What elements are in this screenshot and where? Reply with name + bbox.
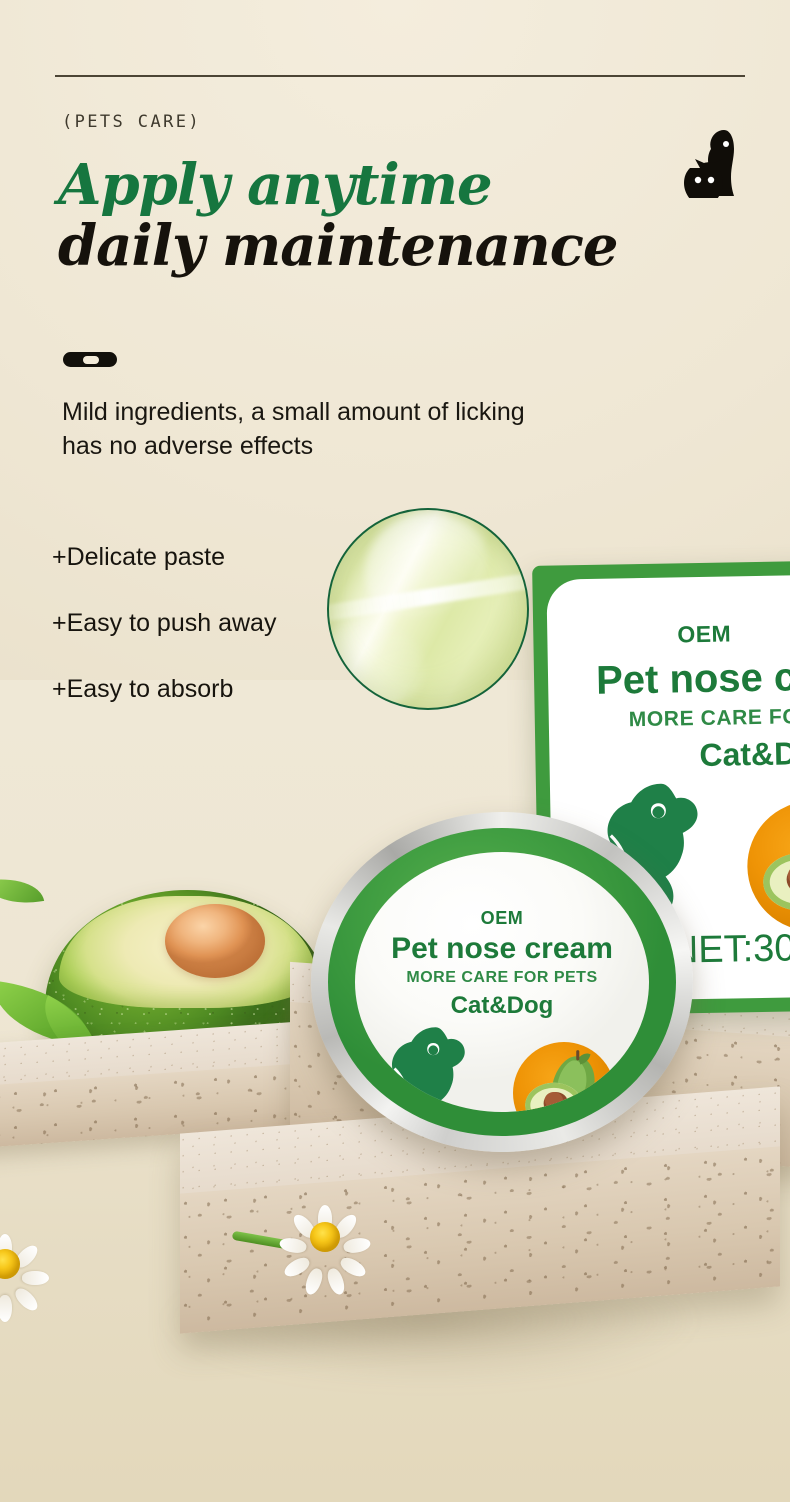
label-card-tagline: MORE CARE FOR PETS: [629, 704, 790, 732]
list-item: +Easy to push away: [52, 611, 352, 636]
dash-pill-divider-icon: [63, 352, 117, 367]
tin-title: Pet nose cream: [391, 932, 613, 966]
eyebrow-label: (PETS CARE): [62, 112, 201, 132]
cream-texture-circle: [327, 508, 529, 710]
feature-bullet-list: +Delicate paste +Easy to push away +Easy…: [52, 545, 352, 743]
list-item: +Delicate paste: [52, 545, 352, 570]
label-card-oem: OEM: [677, 620, 731, 648]
label-card-title: Pet nose cream: [596, 654, 790, 704]
page-title: Apply anytime daily maintenance: [58, 158, 718, 274]
avocado-pit: [165, 904, 265, 978]
headline-line-2: daily maintenance: [58, 219, 718, 274]
list-item: +Easy to absorb: [52, 677, 352, 702]
headline-line-1: Apply anytime: [58, 158, 718, 213]
tin-label-face: OEM Pet nose cream MORE CARE FOR PETS Ca…: [355, 852, 649, 1112]
chamomile-daisy-left: [0, 1225, 44, 1303]
product-marketing-page: OEM Pet nose cream MORE CARE FOR PETS Ca…: [0, 0, 790, 1502]
dog-silhouette-icon: [365, 1020, 487, 1112]
avocado-badge-icon: [513, 1042, 615, 1112]
cream-swirl-bottom: [327, 621, 424, 710]
avocado-badge-icon: [746, 800, 790, 932]
chamomile-daisy-front: [280, 1192, 370, 1282]
subcopy-text: Mild ingredients, a small amount of lick…: [62, 396, 532, 463]
tin-oem: OEM: [481, 908, 524, 929]
header-divider-rule: [55, 75, 745, 77]
label-card-audience: Cat&Dog: [699, 735, 790, 774]
product-tin[interactable]: OEM Pet nose cream MORE CARE FOR PETS Ca…: [311, 812, 693, 1162]
tin-tagline: MORE CARE FOR PETS: [406, 969, 597, 987]
daisy-center: [310, 1222, 340, 1252]
tin-audience: Cat&Dog: [451, 992, 554, 1020]
